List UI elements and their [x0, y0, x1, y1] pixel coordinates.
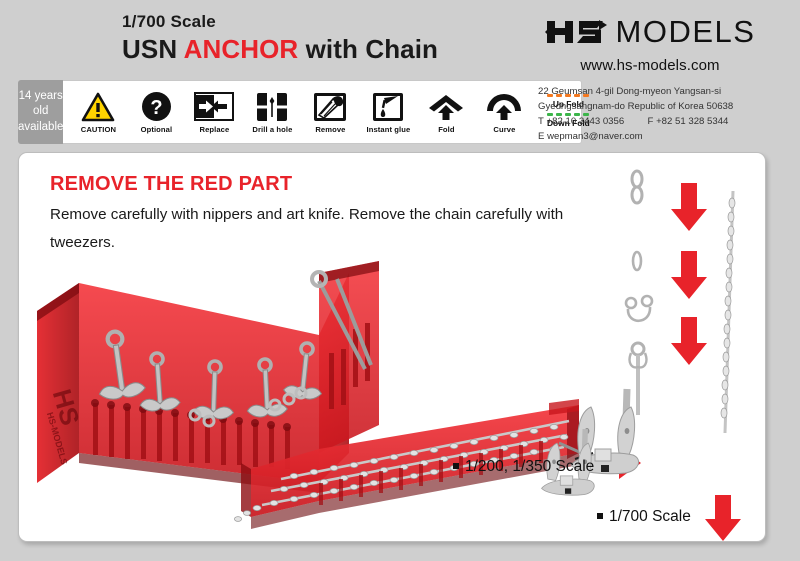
remove-icon	[313, 90, 347, 123]
anchor-with-shank-part	[630, 343, 647, 415]
legend-label: Remove	[315, 125, 345, 134]
shackle-pair-part	[626, 296, 652, 321]
instruction-sheet: 1/700 Scale USN ANCHOR with Chain MODELS…	[0, 0, 800, 561]
email-value[interactable]: wepman3@naver.com	[547, 131, 643, 142]
instruction-panel: REMOVE THE RED PART Remove carefully wit…	[18, 152, 766, 542]
direction-arrows	[595, 183, 741, 541]
down-arrow	[705, 495, 741, 541]
caption-large-scale-text: 1/200, 1/350 Scale	[465, 458, 594, 475]
fax-value: +82 51 328 5344	[656, 116, 728, 127]
removed-small-parts	[626, 171, 652, 415]
legend-label: Drill a hole	[252, 125, 292, 134]
legend-label: Optional	[141, 125, 173, 134]
caution-icon	[81, 90, 115, 123]
legend-item-replace: Replace	[185, 90, 243, 134]
phone-fax-line: T +82 10 3443 0356 F +82 51 328 5344	[538, 114, 774, 129]
sprue-illustration: HS HS-MODELS	[19, 153, 765, 541]
email-key: E	[538, 129, 544, 144]
legend-item-remove: Remove	[301, 90, 359, 134]
legend-item-drill-hole: Drill a hole	[243, 90, 301, 134]
header: 1/700 Scale USN ANCHOR with Chain MODELS…	[0, 0, 800, 76]
address-line-2: Gyeongsangnam-do Republic of Korea 50638	[538, 99, 774, 114]
title-highlight: ANCHOR	[184, 34, 299, 64]
caption-small-scale-text: 1/700 Scale	[609, 508, 691, 525]
legend-icons: CAUTION ? Optional	[63, 81, 609, 143]
brand-name: MODELS	[616, 14, 756, 50]
fold-icon	[426, 90, 466, 123]
legend-label: Instant glue	[367, 125, 411, 134]
instant-glue-icon	[372, 90, 404, 123]
question-icon: ?	[141, 90, 172, 123]
bullet-square	[453, 463, 459, 469]
drill-hole-icon	[256, 90, 288, 123]
title-suffix: with Chain	[298, 34, 438, 64]
kit-scale: 1/700 Scale	[122, 12, 438, 32]
email-line: E wepman3@naver.com	[538, 129, 774, 144]
contact-block: 22 Geumsan 4-gil Dong-myeon Yangsan-si G…	[538, 84, 774, 145]
brand-block: MODELS www.hs-models.com	[530, 14, 770, 74]
legend-label: Replace	[199, 125, 229, 134]
caption-small-scale: 1/700 Scale	[597, 508, 691, 526]
link-part	[633, 252, 641, 270]
legend-label: Curve	[493, 125, 515, 134]
legend-item-optional: ? Optional	[127, 90, 185, 134]
title-prefix: USN	[122, 34, 184, 64]
legend-item-instant-glue: Instant glue	[359, 90, 417, 134]
fax-key: F	[648, 114, 654, 129]
age-line-2: available	[18, 120, 63, 136]
age-badge: 14 years old available	[18, 80, 63, 144]
tel-key: T	[538, 114, 544, 129]
legend-item-fold: Fold	[417, 90, 475, 134]
legend-item-caution: CAUTION	[69, 90, 127, 134]
legend-label: Fold	[438, 125, 454, 134]
legend-item-curve: Curve	[475, 90, 533, 134]
age-line-1: 14 years old	[18, 89, 63, 120]
legend-label: CAUTION	[81, 125, 116, 134]
down-arrow	[671, 183, 707, 231]
replace-icon	[194, 90, 234, 123]
caption-large-scale: 1/200, 1/350 Scale	[453, 458, 594, 476]
page-title: USN ANCHOR with Chain	[122, 34, 438, 65]
detached-long-chain	[721, 191, 735, 433]
down-arrow	[671, 251, 707, 299]
curve-icon	[484, 90, 524, 123]
bullet-square	[597, 513, 603, 519]
symbol-legend-bar: 14 years old available CAUTION	[18, 80, 582, 144]
title-block: 1/700 Scale USN ANCHOR with Chain	[122, 12, 438, 65]
shackle-part-top	[632, 171, 642, 203]
hs-logo-icon	[545, 17, 607, 47]
tel-value: +82 10 3443 0356	[547, 116, 625, 127]
address-line-1: 22 Geumsan 4-gil Dong-myeon Yangsan-si	[538, 84, 774, 99]
brand-website[interactable]: www.hs-models.com	[530, 57, 770, 74]
svg-text:?: ?	[150, 97, 162, 119]
down-arrow	[671, 317, 707, 365]
